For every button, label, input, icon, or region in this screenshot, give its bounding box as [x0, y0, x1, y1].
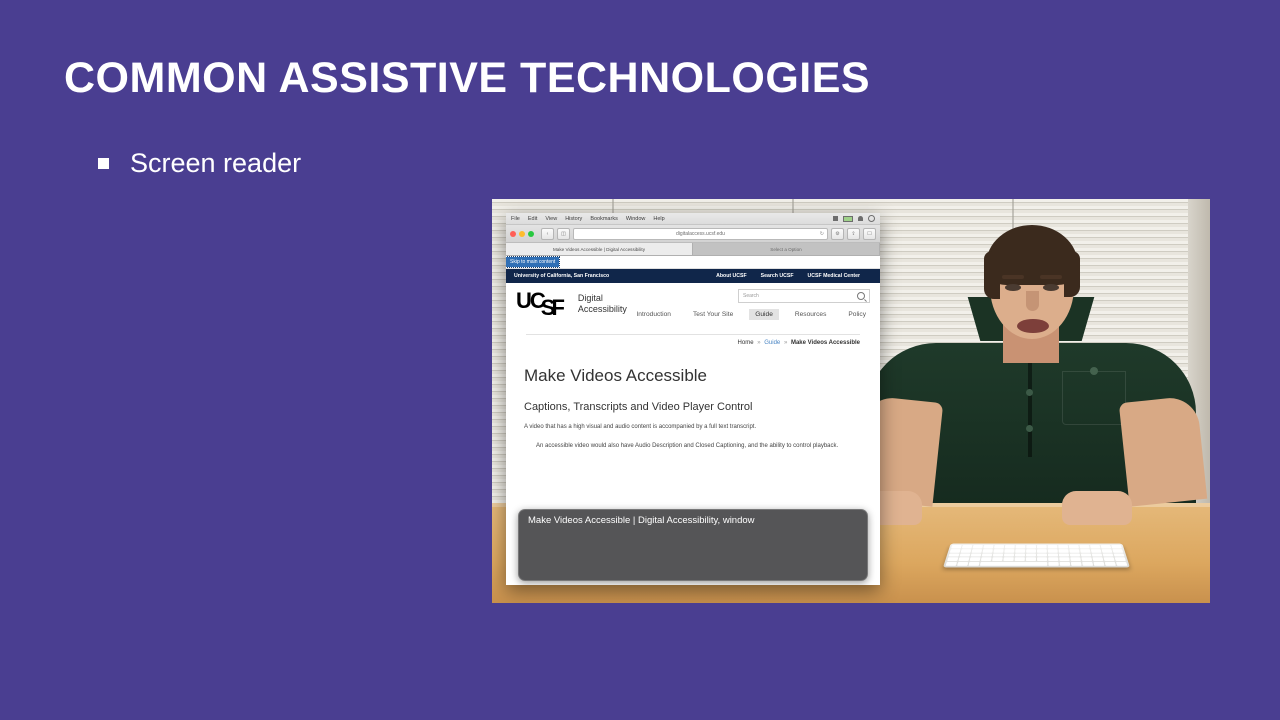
bullet-list-item: Screen reader: [98, 148, 301, 179]
gear-icon[interactable]: ⚙: [831, 228, 844, 240]
back-icon[interactable]: ‹: [541, 228, 554, 240]
site-name: Digital Accessibility: [578, 291, 627, 316]
nav-item-test-your-site[interactable]: Test Your Site: [687, 309, 739, 320]
url-text: digitalaccess.ucsf.edu: [676, 231, 725, 237]
nav-item-policy[interactable]: Policy: [842, 309, 872, 320]
page-title: COMMON ASSISTIVE TECHNOLOGIES: [64, 54, 870, 103]
square-bullet-icon: [98, 158, 109, 169]
nav-item-guide[interactable]: Guide: [749, 309, 779, 320]
site-header: UCSF Digital Accessibility Search Introd…: [506, 283, 880, 350]
keyboard: [943, 544, 1130, 568]
skip-to-main-content-link[interactable]: Skip to main content: [506, 257, 559, 267]
search-icon[interactable]: [857, 292, 865, 300]
reload-icon[interactable]: ↻: [820, 231, 824, 237]
voiceover-caption-panel: Make Videos Accessible | Digital Accessi…: [518, 509, 868, 581]
tab-bar[interactable]: Make Videos Accessible | Digital Accessi…: [506, 243, 880, 256]
address-bar[interactable]: digitalaccess.ucsf.edu ↻: [573, 228, 828, 240]
sidebar-icon[interactable]: ◫: [557, 228, 570, 240]
link-ucsf-medical-center[interactable]: UCSF Medical Center: [808, 273, 860, 279]
mac-menu-bar[interactable]: File Edit View History Bookmarks Window …: [506, 213, 880, 225]
menu-help[interactable]: Help: [653, 216, 664, 222]
tab-select-a-option[interactable]: Select a Option: [693, 243, 880, 255]
right-hand: [1062, 491, 1132, 525]
window-traffic-lights[interactable]: [510, 231, 534, 237]
content-subheading: Captions, Transcripts and Video Player C…: [524, 400, 862, 415]
wifi-icon[interactable]: [858, 216, 863, 221]
menu-bookmarks[interactable]: Bookmarks: [590, 216, 618, 222]
tabs-icon[interactable]: ☐: [863, 228, 876, 240]
bullet-item-label: Screen reader: [130, 148, 301, 179]
site-name-line-1: Digital: [578, 293, 627, 304]
breadcrumb-guide[interactable]: Guide: [764, 340, 780, 346]
search-placeholder: Search: [743, 293, 759, 299]
breadcrumb[interactable]: Home » Guide » Make Videos Accessible: [526, 334, 860, 346]
nav-item-resources[interactable]: Resources: [789, 309, 833, 320]
battery-icon[interactable]: [843, 216, 853, 222]
page-content: Make Videos Accessible Captions, Transcr…: [506, 350, 880, 459]
person-at-desk: [866, 297, 1196, 503]
close-window-icon[interactable]: [510, 231, 516, 237]
breadcrumb-home[interactable]: Home: [738, 340, 754, 346]
breadcrumb-current: Make Videos Accessible: [791, 340, 860, 346]
clock-icon[interactable]: [868, 215, 875, 222]
menu-file[interactable]: File: [511, 216, 520, 222]
browser-toolbar[interactable]: ‹ ◫ digitalaccess.ucsf.edu ↻ ⚙ ⇪ ☐: [506, 225, 880, 243]
ucsf-university-name: University of California, San Francisco: [514, 273, 609, 279]
minimize-window-icon[interactable]: [519, 231, 525, 237]
breadcrumb-separator-1: »: [757, 340, 760, 346]
menu-edit[interactable]: Edit: [528, 216, 537, 222]
search-input[interactable]: Search: [738, 289, 870, 303]
menubar-status-icons[interactable]: [833, 215, 875, 222]
link-about-ucsf[interactable]: About UCSF: [716, 273, 747, 279]
menu-view[interactable]: View: [545, 216, 557, 222]
menu-window[interactable]: Window: [626, 216, 646, 222]
site-name-line-2: Accessibility: [578, 304, 627, 315]
ucsf-university-links[interactable]: About UCSF Search UCSF UCSF Medical Cent…: [716, 273, 872, 279]
skip-link-row: Skip to main content: [506, 256, 880, 269]
link-search-ucsf[interactable]: Search UCSF: [761, 273, 794, 279]
tab-make-videos-accessible[interactable]: Make Videos Accessible | Digital Accessi…: [506, 243, 693, 255]
embedded-video[interactable]: File Edit View History Bookmarks Window …: [492, 199, 1210, 603]
ucsf-university-bar: University of California, San Francisco …: [506, 269, 880, 283]
menu-history[interactable]: History: [565, 216, 582, 222]
bluetooth-icon[interactable]: [833, 216, 838, 221]
content-paragraph-1: A video that has a high visual and audio…: [524, 422, 862, 432]
share-icon[interactable]: ⇪: [847, 228, 860, 240]
ucsf-logo[interactable]: UCSF: [516, 291, 568, 311]
main-navigation[interactable]: Introduction Test Your Site Guide Resour…: [622, 309, 872, 320]
safari-browser-window[interactable]: File Edit View History Bookmarks Window …: [506, 213, 880, 585]
zoom-window-icon[interactable]: [528, 231, 534, 237]
nav-item-introduction[interactable]: Introduction: [630, 309, 676, 320]
breadcrumb-separator-2: »: [784, 340, 787, 346]
content-paragraph-2: An accessible video would also have Audi…: [524, 441, 862, 451]
content-heading: Make Videos Accessible: [524, 366, 862, 386]
slide-root: { "slide": { "title": "COMMON ASSISTIVE …: [0, 0, 1280, 720]
